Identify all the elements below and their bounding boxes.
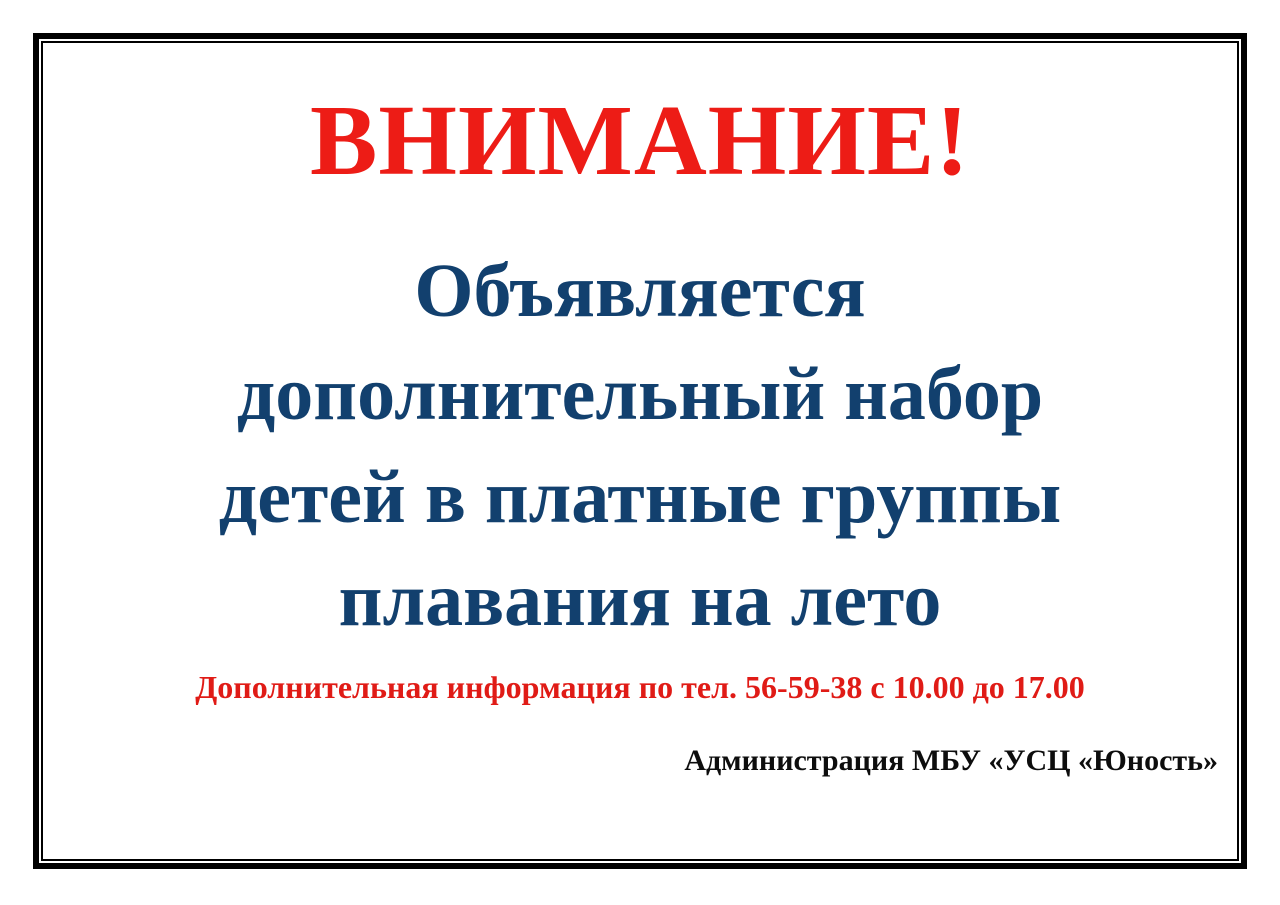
- poster-content: ВНИМАНИЕ! Объявляется дополнительный наб…: [48, 48, 1232, 854]
- announcement-poster: ВНИМАНИЕ! Объявляется дополнительный наб…: [0, 0, 1280, 905]
- body-line-3: детей в платные группы: [48, 446, 1232, 549]
- body-line-1: Объявляется: [48, 240, 1232, 343]
- body-line-4: плавания на лето: [48, 549, 1232, 652]
- poster-body-text: Объявляется дополнительный набор детей в…: [48, 240, 1232, 652]
- contact-info-line: Дополнительная информация по тел. 56-59-…: [48, 668, 1232, 706]
- poster-headline: ВНИМАНИЕ!: [48, 90, 1232, 191]
- signature-line: Администрация МБУ «УСЦ «Юность»: [48, 743, 1232, 779]
- body-line-2: дополнительный набор: [48, 343, 1232, 446]
